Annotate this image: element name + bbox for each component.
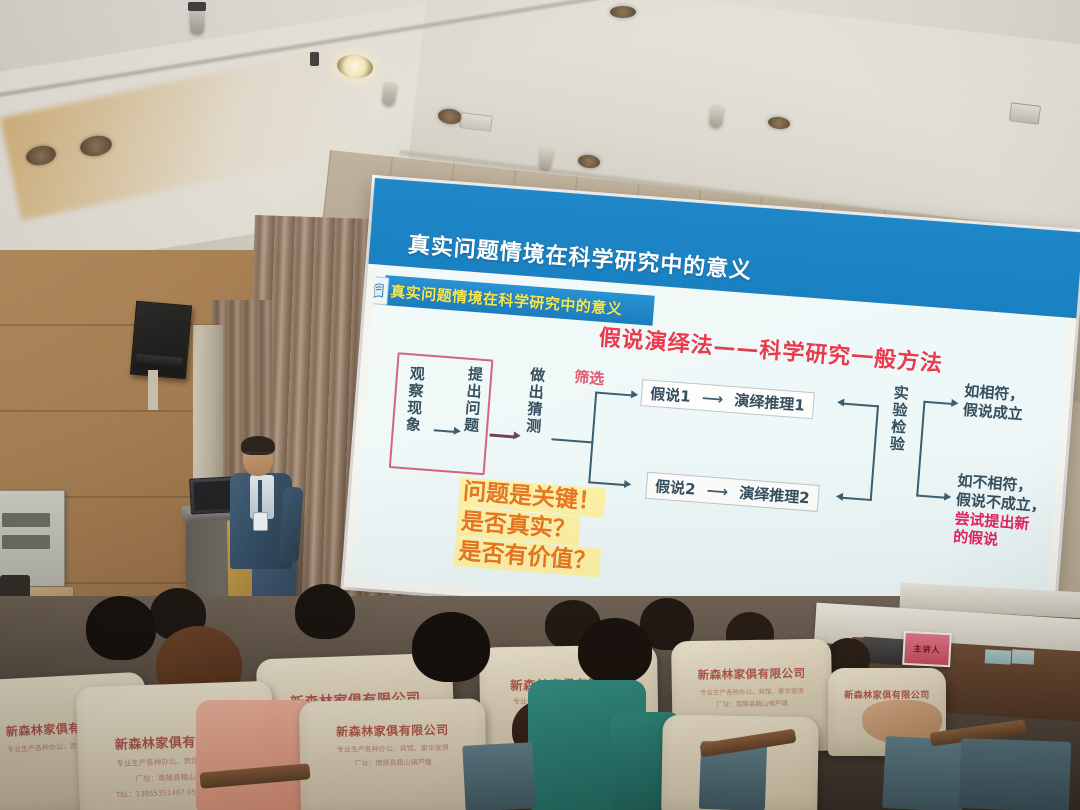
- label-filter: 筛选: [574, 366, 606, 389]
- outcome-match-line2: 假说成立: [962, 401, 1023, 424]
- attendee-head: [578, 618, 652, 684]
- attendee-head: [412, 612, 490, 682]
- deduction-1-label: 演绎推理1: [734, 391, 806, 414]
- track-spotlight-mount-icon: [310, 52, 319, 66]
- nameplate: 主讲人: [902, 631, 952, 667]
- presenter-glasses-icon: [245, 452, 271, 458]
- connector: [588, 392, 597, 484]
- note-line-3: 是否有价值？: [453, 537, 601, 577]
- track-spotlight-mount-icon: [188, 2, 206, 11]
- arrow-icon: [944, 493, 952, 502]
- connector: [595, 392, 633, 397]
- hypothesis-2-label: 假说2: [654, 477, 696, 498]
- deduction-2-label: 演绎推理2: [739, 484, 811, 507]
- chair-cover-line3: 厂址：南陵县籍山镇芦塘: [672, 697, 832, 710]
- hypothesis-2-box: 假说2 ⟶ 演绎推理2: [645, 472, 819, 512]
- connector: [916, 494, 946, 498]
- presenter-badge: [253, 512, 268, 531]
- desk-item: [1012, 649, 1035, 664]
- chair-cover: 新森林家俱有限公司 专业生产各种办公、宾馆、豪华家俱 厂址：南陵县籍山镇芦塘: [299, 698, 487, 810]
- chair-cover-line2: 专业生产各种办公、宾馆、豪华家俱: [672, 685, 832, 698]
- chair-cover-company: 新森林家俱有限公司: [671, 665, 831, 684]
- nameplate-text: 主讲人: [913, 643, 941, 655]
- outcome-match: 如相符， 假说成立: [962, 382, 1025, 424]
- seat-frame: [462, 742, 535, 810]
- attendee-head: [86, 596, 156, 660]
- connector: [588, 481, 626, 486]
- arrow-icon: [836, 492, 844, 501]
- recessed-downlight-icon: [610, 6, 636, 18]
- chair-cover-company: 新森林家俱有限公司: [299, 720, 485, 740]
- track-spotlight-icon: [190, 8, 204, 34]
- hypothesis-1-box: 假说1 ⟶ 演绎推理1: [640, 379, 814, 419]
- chair-cover-line2: 专业生产各种办公、宾馆、豪华家俱: [300, 742, 486, 755]
- attendee-jacket: [196, 700, 316, 810]
- attendee-head: [295, 584, 355, 639]
- arrow-icon: ⟶: [695, 388, 730, 409]
- hypothesis-1-label: 假说1: [650, 385, 692, 406]
- arrow-icon: [951, 399, 959, 408]
- connector: [843, 403, 879, 408]
- connector: [870, 405, 879, 501]
- node-experimental-test: 实验检验: [887, 384, 908, 453]
- ceiling-vent-icon: [1009, 102, 1041, 125]
- connector: [923, 401, 953, 405]
- outcome-mismatch: 如不相符， 假说不成立， 尝试提出新 的假说: [952, 472, 1048, 554]
- slide-bottom-notes: 问题是关键！ 是否真实？ 是否有价值？: [453, 478, 605, 579]
- arrow-icon: [454, 427, 462, 436]
- connector: [490, 434, 516, 438]
- connector: [551, 438, 593, 443]
- arrow-icon: [837, 398, 845, 407]
- speaker-mount-bracket: [148, 370, 158, 410]
- arrow-icon: [631, 390, 639, 399]
- node-make-conjecture: 做出猜测: [524, 366, 545, 435]
- chair-cover-company: 新森林家俱有限公司: [828, 688, 946, 701]
- presentation-photo-scene: 真实问题情境在科学研究中的意义 真实问题情境在科学研究中的意义 假说演绎法——科…: [0, 0, 1080, 810]
- connector: [842, 497, 872, 501]
- slide-canvas[interactable]: 真实问题情境在科学研究中的意义 假说演绎法——科学研究一般方法 观察现象 提出问…: [352, 266, 1068, 632]
- seat-frame: [882, 736, 966, 810]
- projector-screen[interactable]: 真实问题情境在科学研究中的意义 真实问题情境在科学研究中的意义 假说演绎法——科…: [344, 178, 1080, 641]
- outcome-mismatch-line4: 的假说: [952, 528, 998, 549]
- arrow-icon: ⟶: [700, 481, 735, 502]
- arrow-icon: [624, 480, 632, 489]
- arrow-icon: [513, 431, 521, 440]
- wall-speaker-icon: [130, 301, 192, 380]
- presenter-lanyard: [258, 480, 262, 514]
- connector: [916, 401, 925, 497]
- chair-cover-line3: 厂址：南陵县籍山镇芦塘: [300, 756, 486, 769]
- slide-title-text: 真实问题情境在科学研究中的意义: [384, 280, 623, 319]
- desk-item: [985, 649, 1012, 664]
- seat-frame: [959, 738, 1071, 810]
